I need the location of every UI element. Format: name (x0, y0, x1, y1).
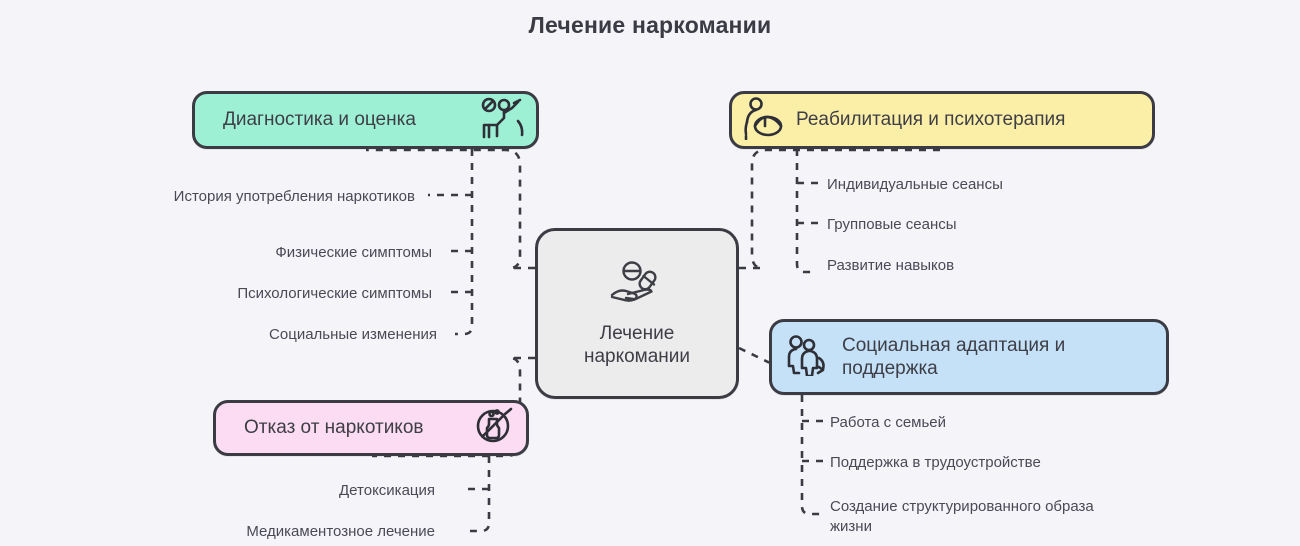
branch-node-rehab[interactable]: Реабилитация и психотерапия (729, 91, 1155, 149)
leaf-rehab-3: Развитие навыков (827, 256, 1157, 276)
branch-label-social: Социальная адаптация и поддержка (842, 334, 1065, 380)
hand-holding-pills-icon (606, 259, 668, 312)
branch-label-rehab: Реабилитация и психотерапия (796, 108, 1065, 131)
edge-diagnostics-spine (455, 149, 472, 334)
leaf-refusal-1: Детоксикация (150, 481, 435, 501)
leaf-rehab-2: Групповые сеансы (827, 215, 1157, 235)
person-assessment-icon (480, 97, 526, 144)
mindmap-canvas: Лечение наркомании Лечение наркомании Ди… (0, 0, 1300, 546)
people-support-icon (786, 334, 830, 381)
leaf-social-2: Поддержка в трудоустройстве (830, 453, 1160, 473)
branch-node-social[interactable]: Социальная адаптация и поддержка (769, 319, 1169, 395)
edge-social-spine (802, 395, 820, 514)
branch-label-refusal: Отказ от наркотиков (244, 416, 424, 439)
branch-label-diagnostics: Диагностика и оценка (223, 108, 416, 131)
leaf-social-1: Работа с семьей (830, 413, 1160, 433)
leaf-rehab-1: Индивидуальные сеансы (827, 175, 1157, 195)
branch-node-refusal[interactable]: Отказ от наркотиков (213, 400, 529, 456)
leaf-diagnostics-4: Социальные изменения (110, 325, 437, 345)
page-title: Лечение наркомании (0, 12, 1300, 39)
leaf-diagnostics-2: Физические симптомы (110, 243, 432, 263)
edge-refusal-spine (470, 456, 489, 531)
edge-center-rehab (739, 150, 941, 268)
central-node-label: Лечение наркомании (584, 322, 690, 368)
edge-rehab-spine (797, 149, 816, 272)
therapy-person-icon (740, 96, 786, 145)
leaf-refusal-2: Медикаментозное лечение (120, 522, 435, 542)
leaf-diagnostics-3: Психологические симптомы (110, 284, 432, 304)
branch-node-diagnostics[interactable]: Диагностика и оценка (192, 91, 539, 149)
leaf-diagnostics-1: История употребления наркотиков (90, 187, 415, 207)
leaf-social-3: Создание структурированного образа жизни (830, 497, 1142, 538)
central-node[interactable]: Лечение наркомании (535, 228, 739, 399)
no-drugs-icon (474, 406, 516, 451)
